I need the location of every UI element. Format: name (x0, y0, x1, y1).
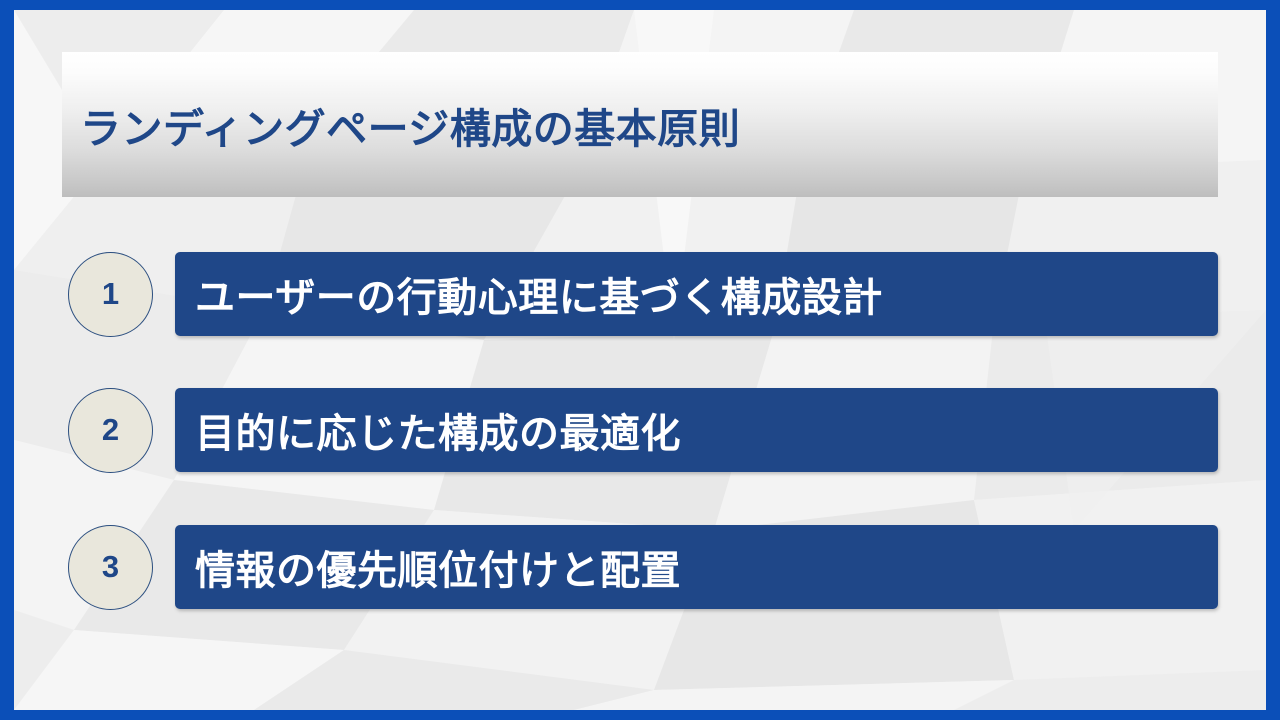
item-bar[interactable]: 目的に応じた構成の最適化 (175, 388, 1218, 472)
item-number-badge: 1 (68, 252, 153, 337)
item-bar[interactable]: ユーザーの行動心理に基づく構成設計 (175, 252, 1218, 336)
slide-frame: ランディングページ構成の基本原則 1 ユーザーの行動心理に基づく構成設計 2 目… (0, 0, 1280, 720)
item-number-badge: 3 (68, 525, 153, 610)
page-title: ランディングページ構成の基本原則 (62, 95, 740, 155)
item-number-label: 3 (102, 551, 119, 582)
item-label: 目的に応じた構成の最適化 (175, 401, 681, 459)
list-item[interactable]: 2 目的に応じた構成の最適化 (62, 388, 1218, 472)
item-label: 情報の優先順位付けと配置 (175, 538, 681, 596)
item-label: ユーザーの行動心理に基づく構成設計 (175, 265, 883, 323)
list-item[interactable]: 1 ユーザーの行動心理に基づく構成設計 (62, 252, 1218, 336)
title-band: ランディングページ構成の基本原則 (62, 52, 1218, 197)
item-number-label: 2 (102, 414, 119, 445)
list-item[interactable]: 3 情報の優先順位付けと配置 (62, 525, 1218, 609)
item-bar[interactable]: 情報の優先順位付けと配置 (175, 525, 1218, 609)
item-number-label: 1 (102, 278, 119, 309)
slide-canvas: ランディングページ構成の基本原則 1 ユーザーの行動心理に基づく構成設計 2 目… (14, 10, 1266, 710)
item-number-badge: 2 (68, 388, 153, 473)
